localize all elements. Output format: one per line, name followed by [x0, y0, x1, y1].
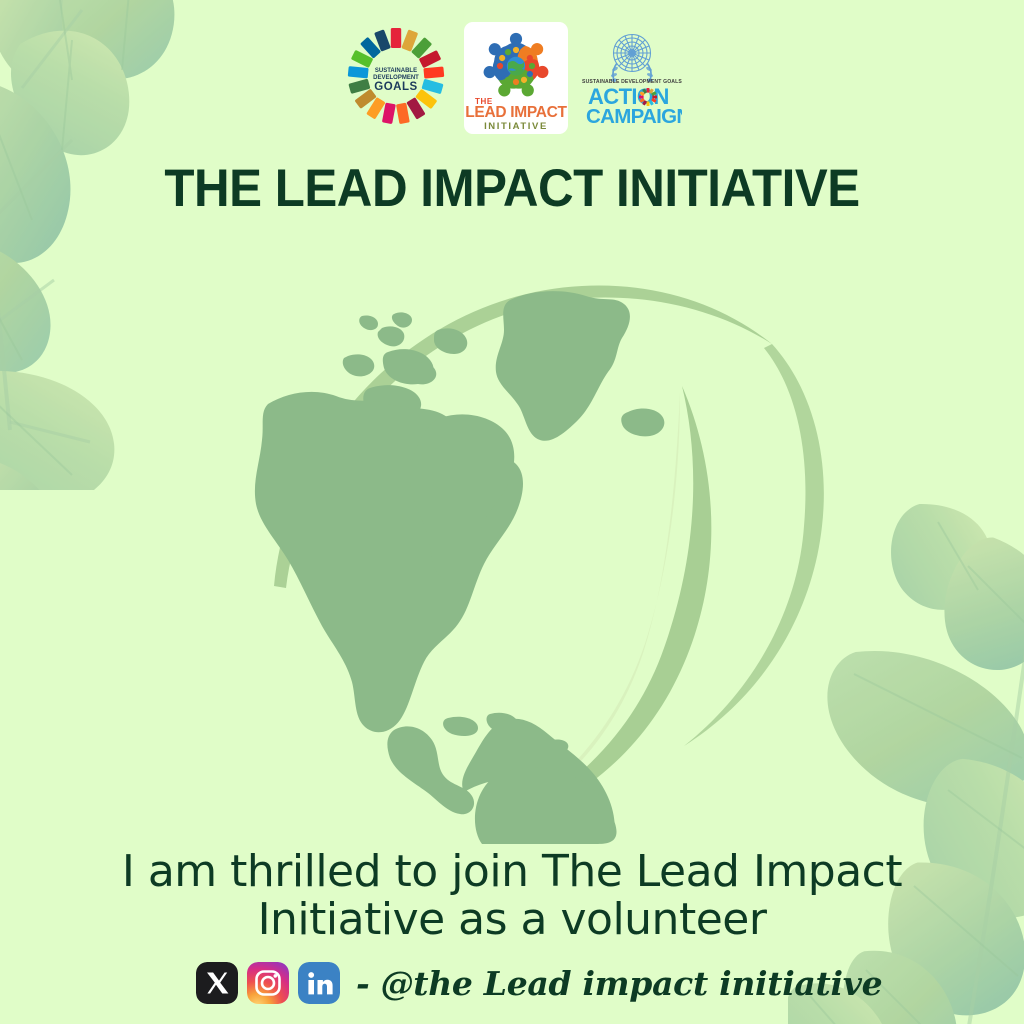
sdg-wheel-logo: SUSTAINABLE DEVELOPMENT GOALS — [342, 22, 450, 130]
action-campaign-logo: SUSTAINABLE DEVELOPMENT GOALS ACTION — [582, 22, 682, 128]
page-title: THE LEAD IMPACT INITIATIVE — [36, 158, 988, 219]
lead-impact-logo: THE LEAD IMPACT INITIATIVE — [464, 22, 568, 134]
social-handle: - @the Lead impact initiative — [356, 964, 882, 1003]
lead-impact-line3: INITIATIVE — [484, 121, 548, 132]
poster-canvas: SUSTAINABLE DEVELOPMENT GOALS — [0, 0, 1024, 1024]
sdg-line3: GOALS — [374, 81, 417, 93]
globe-leaf-illustration — [252, 268, 828, 844]
social-row: - @the Lead impact initiative — [196, 962, 882, 1004]
sdg-line1: SUSTAINABLE — [375, 68, 417, 74]
logo-row: SUSTAINABLE DEVELOPMENT GOALS — [0, 22, 1024, 134]
x-icon[interactable] — [196, 962, 238, 1004]
tagline: I am thrilled to join The Lead Impact In… — [0, 848, 1024, 943]
action-campaign-line3: CAMPAIGN — [586, 105, 682, 128]
tagline-line-1: I am thrilled to join The Lead Impact — [0, 848, 1024, 896]
tagline-line-2: Initiative as a volunteer — [0, 896, 1024, 944]
linkedin-icon[interactable] — [298, 962, 340, 1004]
lead-impact-line2: LEAD IMPACT — [465, 104, 567, 121]
instagram-icon[interactable] — [247, 962, 289, 1004]
